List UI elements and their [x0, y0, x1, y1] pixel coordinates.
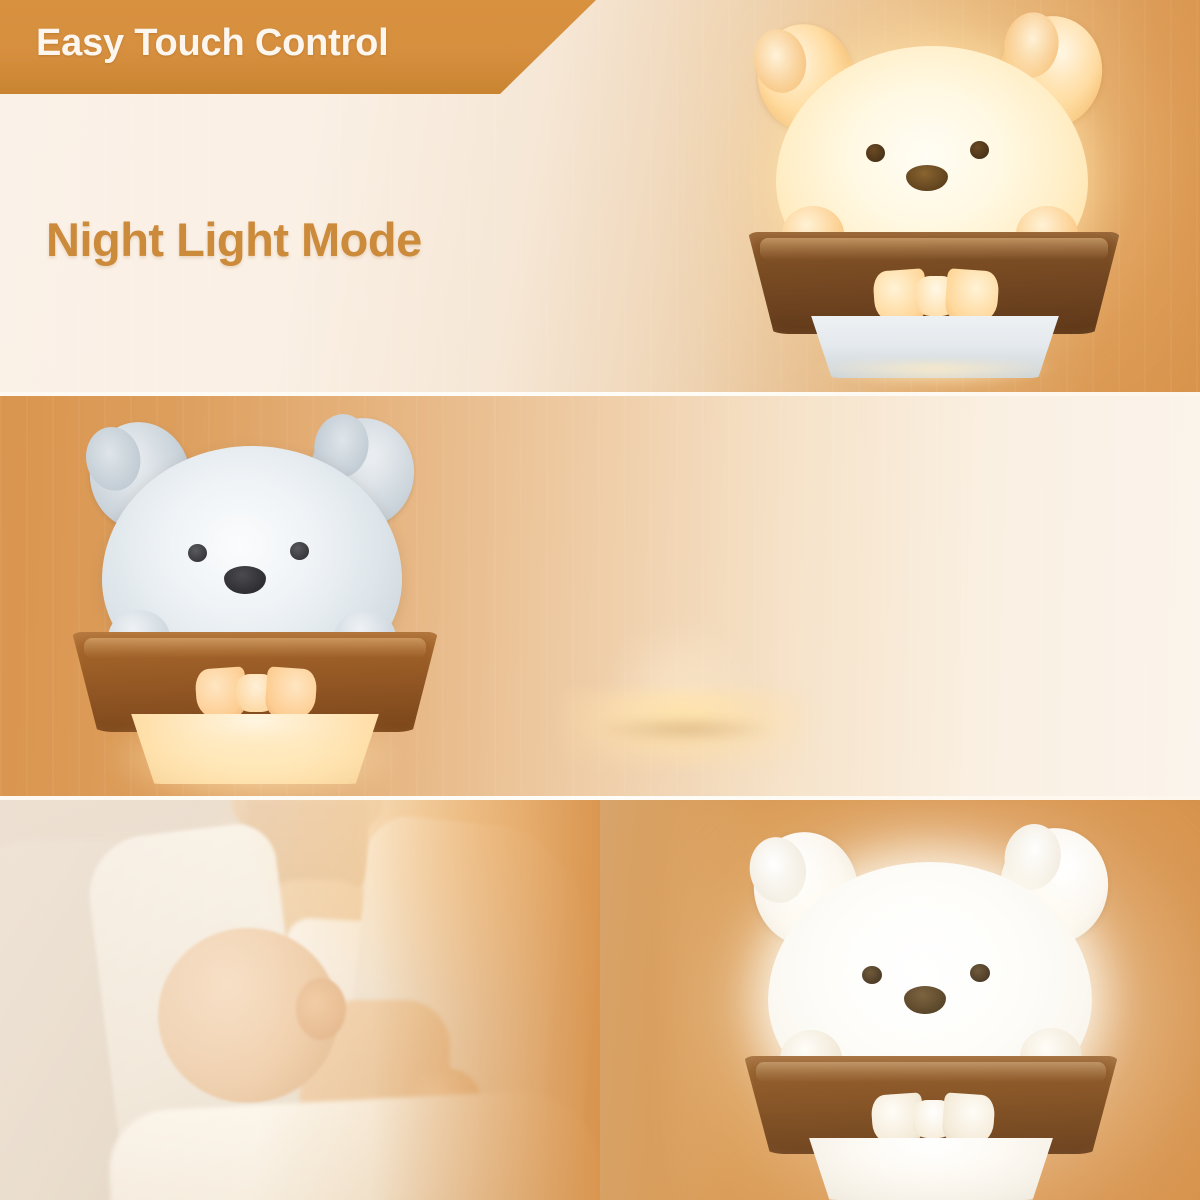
lamp-bowl-sheen [756, 1062, 1106, 1082]
lamp-base [804, 1138, 1058, 1200]
lamp-bowl-sheen [84, 638, 426, 658]
lamp-base-glow [106, 736, 404, 796]
bear-eye-left [866, 144, 885, 162]
bowtie-wing-right [944, 268, 1000, 324]
mode-label-night-light: Night Light Mode [46, 212, 422, 267]
bear-eye-left [862, 966, 882, 984]
header-title: Easy Touch Control [36, 22, 389, 65]
bear-eye-right [970, 964, 990, 982]
bowtie-icon [874, 268, 998, 324]
bowtie-wing-right [941, 1092, 995, 1145]
lamp-base-glow [814, 362, 1056, 388]
photo-mother-holding-baby [0, 800, 600, 1200]
product-feature-image: Night Light Mode [0, 0, 1200, 1200]
bear-lamp-full-bright [738, 828, 1158, 1200]
panel-full-bright-mode: Full Bright Mode [0, 800, 1200, 1200]
bear-eye-right [290, 542, 309, 560]
bear-lamp-spotlight [72, 414, 472, 784]
lamp-bowl-sheen [760, 238, 1108, 260]
bear-ear-inner-left [81, 422, 146, 495]
bowtie-icon [196, 666, 316, 720]
bear-eye-right [970, 141, 989, 159]
header-banner: Easy Touch Control [0, 0, 596, 94]
bear-eye-left [188, 544, 207, 562]
photo-right-fade-edge [0, 800, 600, 1200]
spotlight-shadow [596, 716, 776, 742]
bowtie-wing-right [264, 666, 317, 719]
bowtie-icon [872, 1092, 994, 1146]
bear-lamp-night-light [748, 10, 1148, 382]
